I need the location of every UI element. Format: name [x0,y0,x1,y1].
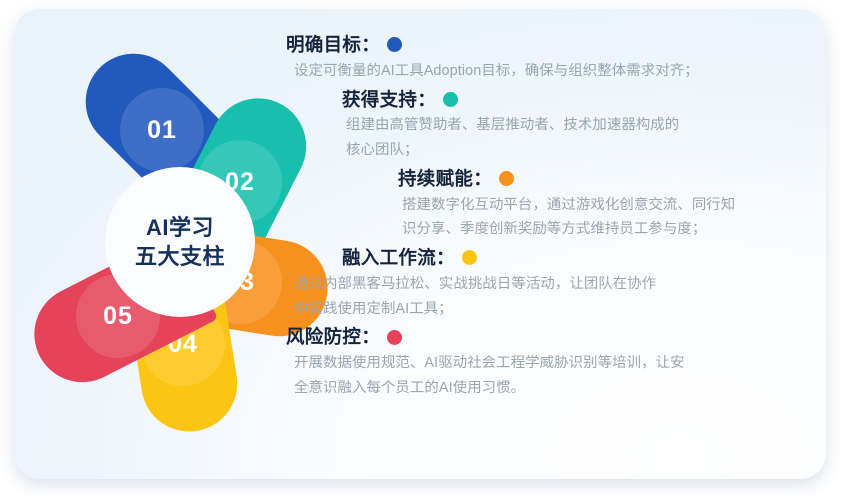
hub-title-line-2: 五大支柱 [135,242,225,271]
pillar-item-2: 获得支持： 组建由高管赞助者、基层推动者、技术加速器构成的 核心团队； [286,86,826,163]
pillar-4-heading: 融入工作流： [342,244,455,272]
pillar-3-heading-row: 持续赋能： [398,165,826,193]
pillar-5-body: 开展数据使用规范、AI驱动社会工程学威胁识别等培训，让安 全意识融入每个员工的A… [294,351,826,401]
pillar-3-heading: 持续赋能： [398,165,492,193]
infographic-card: 01 02 03 04 05 AI学习 五大支柱 [14,9,826,479]
hub-title-line-1: AI学习 [146,213,214,242]
pillar-item-4: 融入工作流： 通过内部黑客马拉松、实战挑战日等活动，让团队在协作 中实践使用定制… [286,244,826,321]
pillar-3-color-dot [499,171,514,186]
pillar-4-heading-row: 融入工作流： [342,244,826,272]
pillar-item-3: 持续赋能： 搭建数字化互动平台，通过游戏化创意交流、同行知 识分享、季度创新奖励… [286,165,826,242]
pillar-5-heading: 风险防控： [286,323,380,351]
pillar-2-heading-row: 获得支持： [342,86,826,114]
pillar-4-color-dot [462,250,477,265]
pillar-4-body: 通过内部黑客马拉松、实战挑战日等活动，让团队在协作 中实践使用定制AI工具； [294,272,826,322]
pillar-5-color-dot [387,330,402,345]
pillar-5-heading-row: 风险防控： [286,323,826,351]
pillar-2-heading: 获得支持： [342,86,436,114]
pillar-item-5: 风险防控： 开展数据使用规范、AI驱动社会工程学威胁识别等培训，让安 全意识融入… [286,323,826,400]
pillar-2-color-dot [443,92,458,107]
pillar-1-color-dot [387,37,402,52]
pillar-3-body: 搭建数字化互动平台，通过游戏化创意交流、同行知 识分享、季度创新奖励等方式维持员… [402,193,826,243]
pillar-1-heading-row: 明确目标： [286,31,826,59]
pillar-1-body: 设定可衡量的AI工具Adoption目标，确保与组织整体需求对齐； [294,59,826,84]
pillar-1-heading: 明确目标： [286,31,380,59]
petal-01-number: 01 [120,88,204,172]
five-petal-diagram: 01 02 03 04 05 AI学习 五大支柱 [56,22,304,462]
infographic-canvas: 01 02 03 04 05 AI学习 五大支柱 [0,0,851,496]
pillar-2-body: 组建由高管赞助者、基层推动者、技术加速器构成的 核心团队； [346,113,826,163]
center-hub: AI学习 五大支柱 [105,167,255,317]
pillar-list: 明确目标： 设定可衡量的AI工具Adoption目标，确保与组织整体需求对齐； … [286,31,826,403]
pillar-item-1: 明确目标： 设定可衡量的AI工具Adoption目标，确保与组织整体需求对齐； [286,31,826,84]
